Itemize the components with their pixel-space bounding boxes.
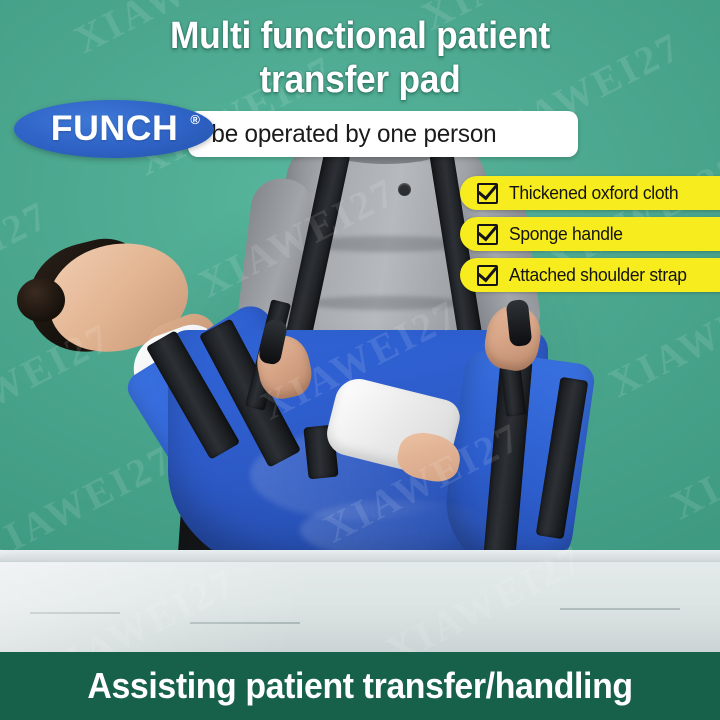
checkbox-checked-icon xyxy=(477,183,498,204)
feature-badge-label: Thickened oxford cloth xyxy=(509,183,678,204)
sponge-handle-right xyxy=(506,299,533,347)
tagline-text: be operated by one person xyxy=(211,111,560,157)
bottom-caption-banner: Assisting patient transfer/handling xyxy=(0,652,720,720)
feature-badge: Sponge handle xyxy=(460,217,720,251)
shirt-fold xyxy=(306,296,466,310)
checkbox-checked-icon xyxy=(477,224,498,245)
page-title: Multi functional patient transfer pad xyxy=(25,14,695,102)
feature-badge: Thickened oxford cloth xyxy=(460,176,720,210)
product-banner: XIAWEI27XIAWEI27XIAWEI27 XIAWEI27XIAWEI2… xyxy=(0,0,720,720)
shirt-button xyxy=(398,183,411,196)
feature-badge-label: Attached shoulder strap xyxy=(509,265,687,286)
checkbox-checked-icon xyxy=(477,265,498,286)
feature-badge: Attached shoulder strap xyxy=(460,258,720,292)
brand-logo: FUNCH ® xyxy=(14,100,214,158)
title-line-2: transfer pad xyxy=(25,58,695,102)
title-line-1: Multi functional patient xyxy=(25,14,695,58)
brand-logo-text: FUNCH xyxy=(50,109,177,149)
bottom-caption-text: Assisting patient transfer/handling xyxy=(87,665,632,707)
feature-badge-list: Thickened oxford cloth Sponge handle Att… xyxy=(460,176,720,292)
feature-badge-label: Sponge handle xyxy=(509,224,623,245)
patient-hair-bun xyxy=(17,278,65,322)
registered-trademark-icon: ® xyxy=(190,112,200,127)
